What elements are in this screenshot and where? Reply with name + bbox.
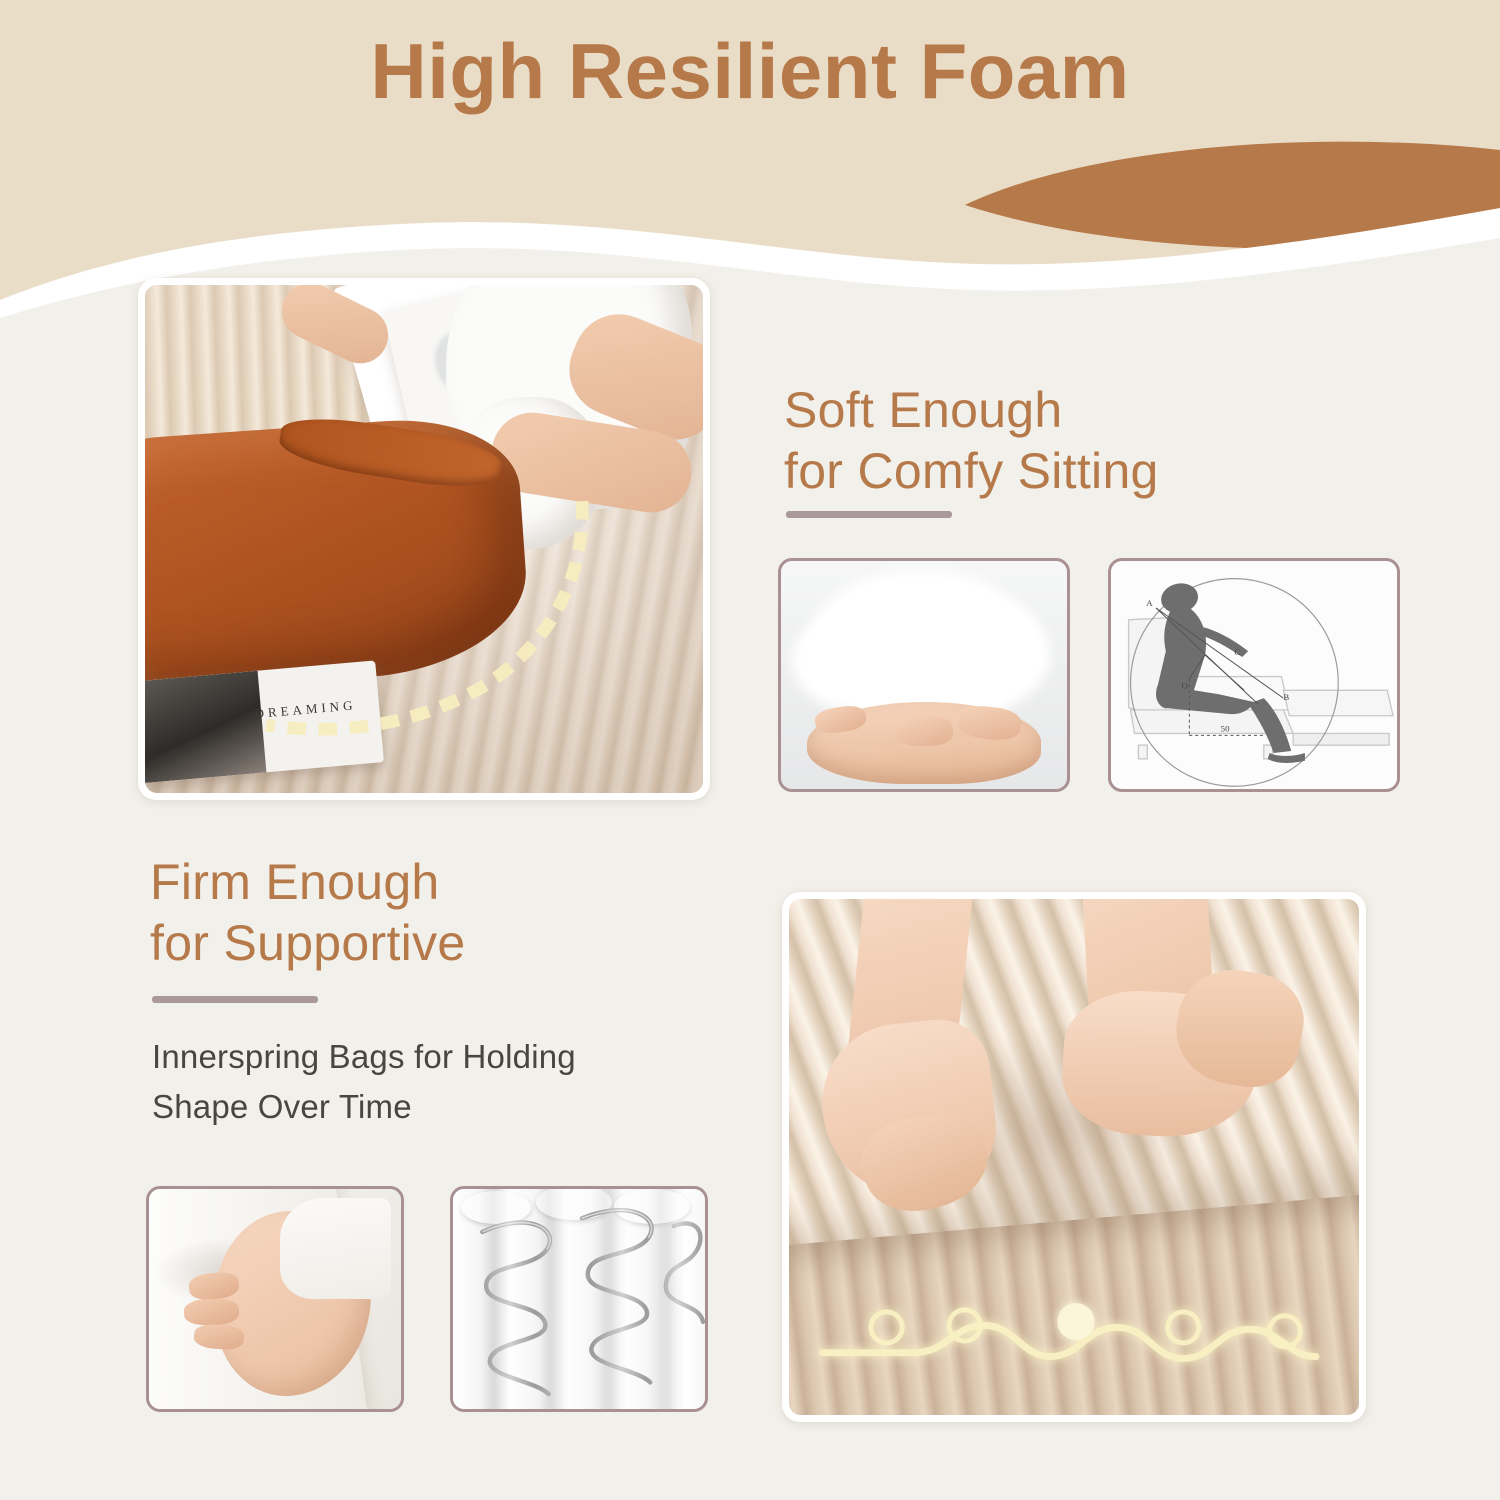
svg-text:O: O (1182, 680, 1188, 690)
coil-springs-svg (453, 1189, 705, 1409)
person-sitting-on-sofa-photo: DREAMING (138, 278, 710, 800)
heading-firm: Firm Enough for Supportive (150, 852, 770, 974)
heading-firm-rule (152, 996, 318, 1003)
diagram-svg: A B C O 50 (1111, 561, 1397, 789)
heading-soft: Soft Enough for Comfy Sitting (784, 380, 1404, 502)
svg-text:B: B (1283, 692, 1289, 702)
infographic-canvas: High Resilient Foam D (0, 0, 1500, 1500)
glowing-wave-line-with-circles (789, 899, 1359, 1415)
ergonomic-seating-diagram: A B C O 50 (1108, 558, 1400, 792)
svg-text:A: A (1146, 598, 1153, 608)
dashed-body-contour-arc (145, 285, 703, 793)
pocket-springs-photo (450, 1186, 708, 1412)
svg-text:50: 50 (1221, 723, 1230, 733)
svg-text:C: C (1234, 647, 1240, 657)
fiber-filling-in-hand-photo (778, 558, 1070, 792)
bare-feet-on-cushion-photo (782, 892, 1366, 1422)
heading-soft-rule (786, 511, 952, 518)
subtitle-firm: Innerspring Bags for Holding Shape Over … (152, 1032, 752, 1132)
hand-pressing-foam-photo (146, 1186, 404, 1412)
page-title: High Resilient Foam (0, 26, 1500, 117)
